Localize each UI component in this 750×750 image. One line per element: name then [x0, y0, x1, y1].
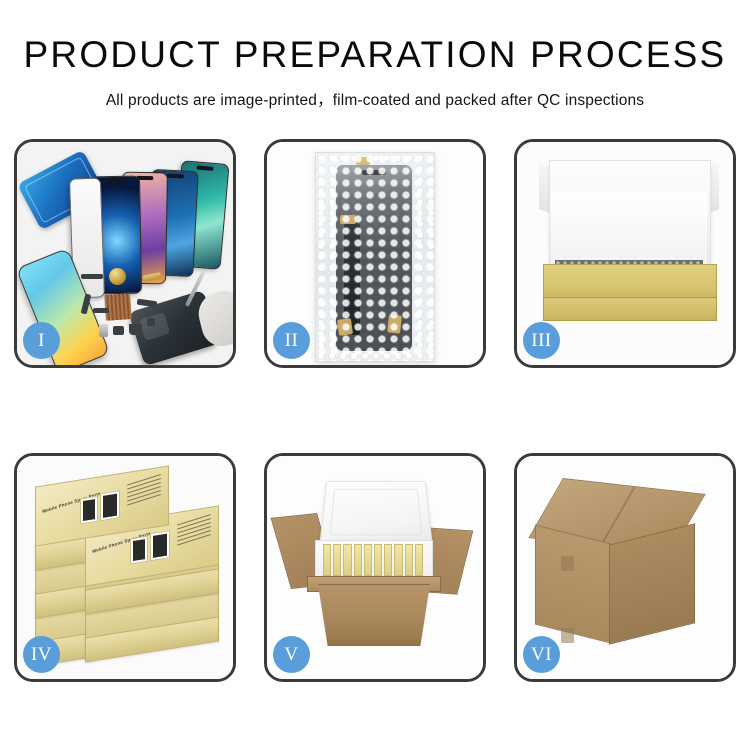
tape-icon [337, 318, 353, 336]
product-photo-icon [150, 530, 170, 561]
tape-icon [561, 628, 574, 643]
phone-lineup-graphic [65, 154, 230, 279]
page-subtitle: All products are image-printed，film-coat… [0, 88, 750, 110]
step-card-v: V [264, 453, 486, 682]
step-badge-ii: II [273, 322, 310, 359]
part-bracket-icon [113, 326, 124, 335]
product-photo-icon [100, 490, 120, 521]
part-camera-icon [147, 318, 155, 326]
step-badge-vi: VI [523, 636, 560, 673]
tape-icon [561, 556, 574, 571]
foam-sheet-icon [551, 192, 707, 264]
step-badge-iii: III [523, 322, 560, 359]
product-photo-icon [80, 496, 98, 525]
tape-icon [340, 215, 356, 224]
part-clip-icon [93, 308, 109, 313]
bubble-wrap-bag-icon [315, 152, 435, 362]
retail-box-spec-lines [127, 477, 161, 514]
step-badge-v: V [273, 636, 310, 673]
page-header: PRODUCT PREPARATION PROCESS All products… [0, 0, 750, 110]
product-photo-icon [130, 536, 148, 565]
process-steps-grid: I II [14, 139, 736, 682]
step-card-iv: Mobile Phone Spare Parts Mobile Phone Sp… [14, 453, 236, 682]
part-strip-icon [81, 274, 103, 279]
box-front-panel-icon [543, 297, 717, 321]
part-sim-tray-icon [99, 324, 108, 337]
carton-body-icon [313, 584, 435, 646]
tape-icon [356, 157, 370, 165]
retail-box-spec-lines [177, 517, 211, 554]
retail-box-stack-graphic: Mobile Phone Spare Parts Mobile Phone Sp… [33, 474, 225, 670]
retail-boxes-inside-icon [323, 544, 423, 576]
coil-component-icon [109, 268, 126, 285]
step-card-ii: II [264, 139, 486, 368]
carton-left-face-icon [535, 525, 611, 644]
step-card-i: I [14, 139, 236, 368]
product-preparation-process-page: PRODUCT PREPARATION PROCESS All products… [0, 0, 750, 750]
step-card-vi: VI [514, 453, 736, 682]
circuit-board-icon [104, 293, 132, 321]
foam-lid-icon [319, 481, 433, 545]
part-speaker-icon [129, 324, 142, 335]
tape-icon [387, 314, 402, 333]
page-title: PRODUCT PREPARATION PROCESS [0, 36, 750, 75]
step-badge-iv: IV [23, 636, 60, 673]
step-badge-i: I [23, 322, 60, 359]
step-card-iii: III [514, 139, 736, 368]
